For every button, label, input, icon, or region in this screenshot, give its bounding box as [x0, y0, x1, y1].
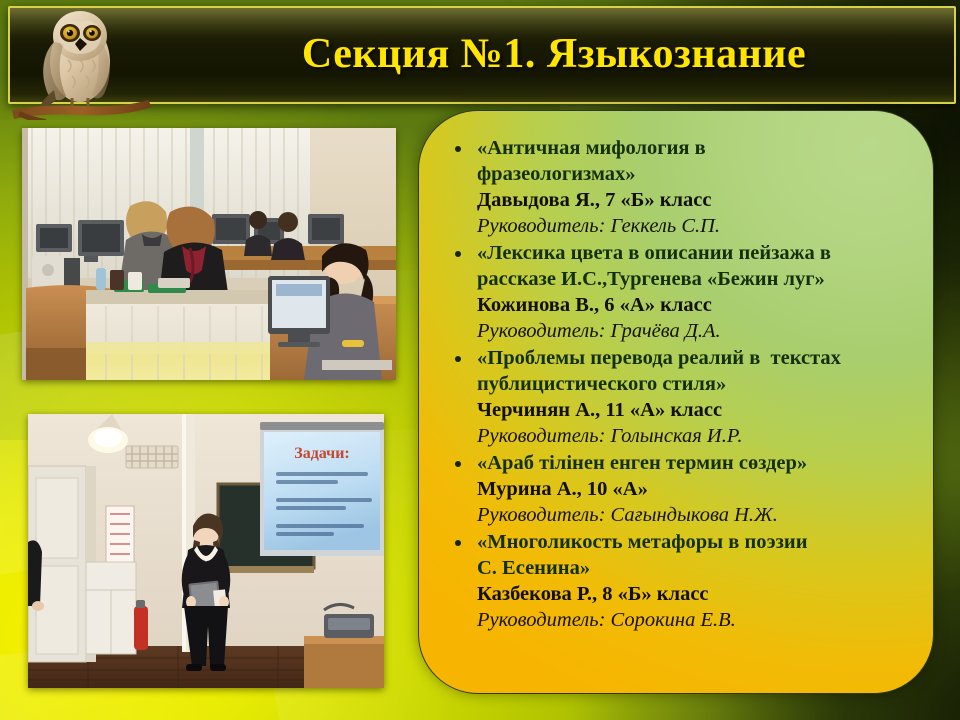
presentation-list: «Античная мифология в фразеологизмах» Да…	[433, 135, 915, 633]
list-item[interactable]: «Лексика цвета в описании пейзажа в расс…	[433, 240, 915, 344]
list-item[interactable]: «Многоликость метафоры в поэзии С. Есени…	[433, 529, 915, 633]
item-advisor: Руководитель: Грачёва Д.А.	[477, 318, 915, 344]
item-student: Черчинян А., 11 «А» класс	[477, 397, 915, 423]
content-panel: «Античная мифология в фразеологизмах» Да…	[418, 110, 934, 694]
item-student: Мурина А., 10 «А»	[477, 476, 915, 502]
photo-student-presenting: Задачи:	[28, 414, 384, 688]
item-student: Казбекова Р., 8 «Б» класс	[477, 581, 915, 607]
svg-text:Задачи:: Задачи:	[294, 445, 349, 462]
item-title: «Лексика цвета в описании пейзажа в расс…	[477, 240, 915, 292]
presentation-slide: Секция №1. Языкознание	[0, 0, 960, 720]
item-title: «Многоликость метафоры в поэзии С. Есени…	[477, 529, 915, 581]
item-title: «Араб тілінен енген термин сөздер»	[477, 450, 915, 476]
owl-icon	[10, 2, 160, 120]
item-advisor: Руководитель: Голынская И.Р.	[477, 423, 915, 449]
item-advisor: Руководитель: Геккель С.П.	[477, 213, 915, 239]
list-item[interactable]: «Проблемы перевода реалий в текстах публ…	[433, 345, 915, 449]
item-student: Давыдова Я., 7 «Б» класс	[477, 187, 915, 213]
item-title: «Проблемы перевода реалий в текстах публ…	[477, 345, 915, 397]
list-item[interactable]: «Араб тілінен енген термин сөздер» Мурин…	[433, 450, 915, 528]
item-student: Кожинова В., 6 «А» класс	[477, 292, 915, 318]
item-advisor: Руководитель: Сағындыкова Н.Ж.	[477, 502, 915, 528]
photo-jury-panel	[22, 128, 396, 380]
list-item[interactable]: «Античная мифология в фразеологизмах» Да…	[433, 135, 915, 239]
item-title: «Античная мифология в фразеологизмах»	[477, 135, 915, 187]
item-advisor: Руководитель: Сорокина Е.В.	[477, 607, 915, 633]
page-title: Секция №1. Языкознание	[180, 16, 928, 92]
